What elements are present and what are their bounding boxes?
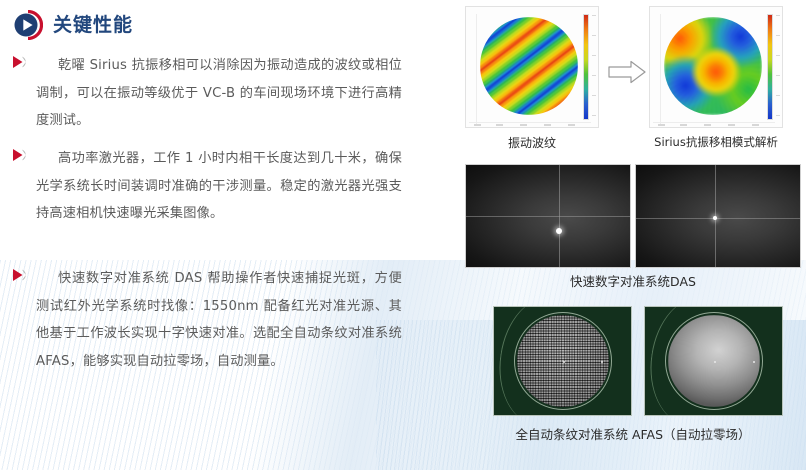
feature-paragraph-1-text: 乾曜 Sirius 抗振移相可以消除因为振动造成的波纹或相位调制，可以在振动等级… [36, 52, 402, 135]
axis-tick-labels [656, 121, 776, 126]
figure-caption-afas: 全自动条纹对准系统 AFAS（自动拉零场） [455, 424, 806, 443]
interferogram-disc [480, 17, 578, 115]
red-arrow-bullet-icon [12, 268, 32, 288]
feature-paragraph-1: 乾曜 Sirius 抗振移相可以消除因为振动造成的波纹或相位调制，可以在振动等级… [12, 52, 402, 135]
red-arrow-bullet-icon [12, 148, 32, 168]
figure-top-pair: 振动波纹 Sirius抗振移相模式解析 [465, 6, 801, 154]
plot-axis-vertical [476, 14, 477, 125]
colorbar-ticks [775, 13, 780, 119]
red-arrow-bullet-icon [12, 55, 32, 75]
feature-paragraph-2-text: 高功率激光器，工作 1 小时内相干长度达到几十米，确保光学系统长时间装调时准确的… [36, 145, 402, 228]
afas-dense-fringe-field [493, 306, 632, 416]
alignment-spot [556, 228, 562, 234]
afas-nulled-field [644, 306, 783, 416]
play-circle-icon [13, 10, 43, 40]
afas-image-pair [493, 306, 783, 416]
feature-paragraph-2: 高功率激光器，工作 1 小时内相干长度达到几十米，确保光学系统长时间装调时准确的… [12, 145, 402, 228]
wavefront-disc [664, 17, 762, 115]
figure-das: 快速数字对准系统DAS [465, 164, 801, 289]
figure-caption-sirius: Sirius抗振移相模式解析 [625, 134, 806, 150]
axis-tick-labels [472, 121, 592, 126]
page-title: 关键性能 [53, 16, 133, 35]
wavefront-pattern [664, 17, 762, 115]
feature-paragraph-3-text: 快速数字对准系统 DAS 帮助操作者快速捕捉光斑，方便测试红外光学系统时找像：1… [36, 265, 402, 375]
plot-area [656, 11, 762, 125]
center-marker [714, 361, 716, 363]
crosshair-horizontal [466, 216, 630, 217]
das-crosshair-view-b [635, 164, 801, 268]
alignment-spot [713, 216, 717, 220]
plot-area [472, 11, 578, 125]
feature-paragraph-3: 快速数字对准系统 DAS 帮助操作者快速捕捉光斑，方便测试红外光学系统时找像：1… [12, 265, 402, 375]
das-image-pair [465, 164, 801, 268]
das-crosshair-view-a [465, 164, 631, 268]
center-marker [563, 361, 565, 363]
figure-caption-das: 快速数字对准系统DAS [465, 271, 801, 290]
vibration-fringe-interferogram [465, 6, 599, 128]
text-column: 关键性能 乾曜 Sirius 抗振移相可以消除因为振动造成的波纹或相位调制，可以… [0, 0, 450, 470]
colorbar-ticks [591, 13, 596, 119]
slide-page: 关键性能 乾曜 Sirius 抗振移相可以消除因为振动造成的波纹或相位调制，可以… [0, 0, 806, 470]
sirius-resolved-wavefront-map [649, 6, 783, 128]
edge-marker [601, 361, 603, 363]
figure-afas: 全自动条纹对准系统 AFAS（自动拉零场） [465, 306, 801, 456]
colorbar [583, 14, 589, 120]
section-heading: 关键性能 [13, 10, 133, 40]
figure-caption-vibration: 振动波纹 [465, 134, 599, 151]
fringe-pattern [480, 17, 578, 115]
right-arrow-icon [605, 58, 649, 86]
colorbar [767, 14, 773, 120]
crosshair-horizontal [636, 218, 800, 219]
plot-axis-vertical [660, 14, 661, 125]
figure-column: 振动波纹 Sirius抗振移相模式解析 快速数字对准系统DAS [452, 0, 806, 470]
